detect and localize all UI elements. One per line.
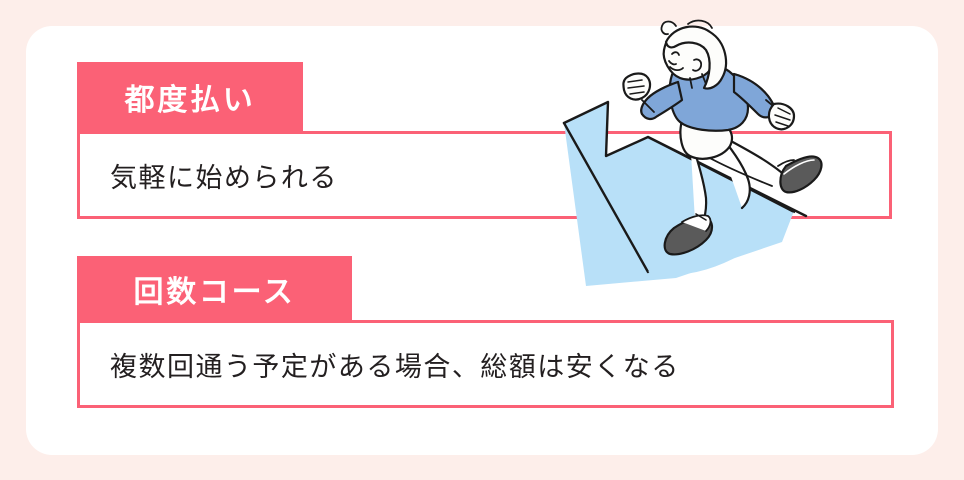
feature-2-description: 複数回通う予定がある場合、総額は安くなる	[80, 345, 680, 384]
feature-1-description: 気軽に始められる	[80, 156, 338, 195]
feature-2-description-box: 複数回通う予定がある場合、総額は安くなる	[77, 320, 894, 408]
feature-1-tag: 都度払い	[77, 62, 303, 131]
feature-1-description-box: 気軽に始められる	[77, 131, 892, 219]
feature-2-tag: 回数コース	[77, 256, 352, 322]
screenshot-root: 気軽に始められる 都度払い 複数回通う予定がある場合、総額は安くなる 回数コース	[0, 0, 964, 480]
